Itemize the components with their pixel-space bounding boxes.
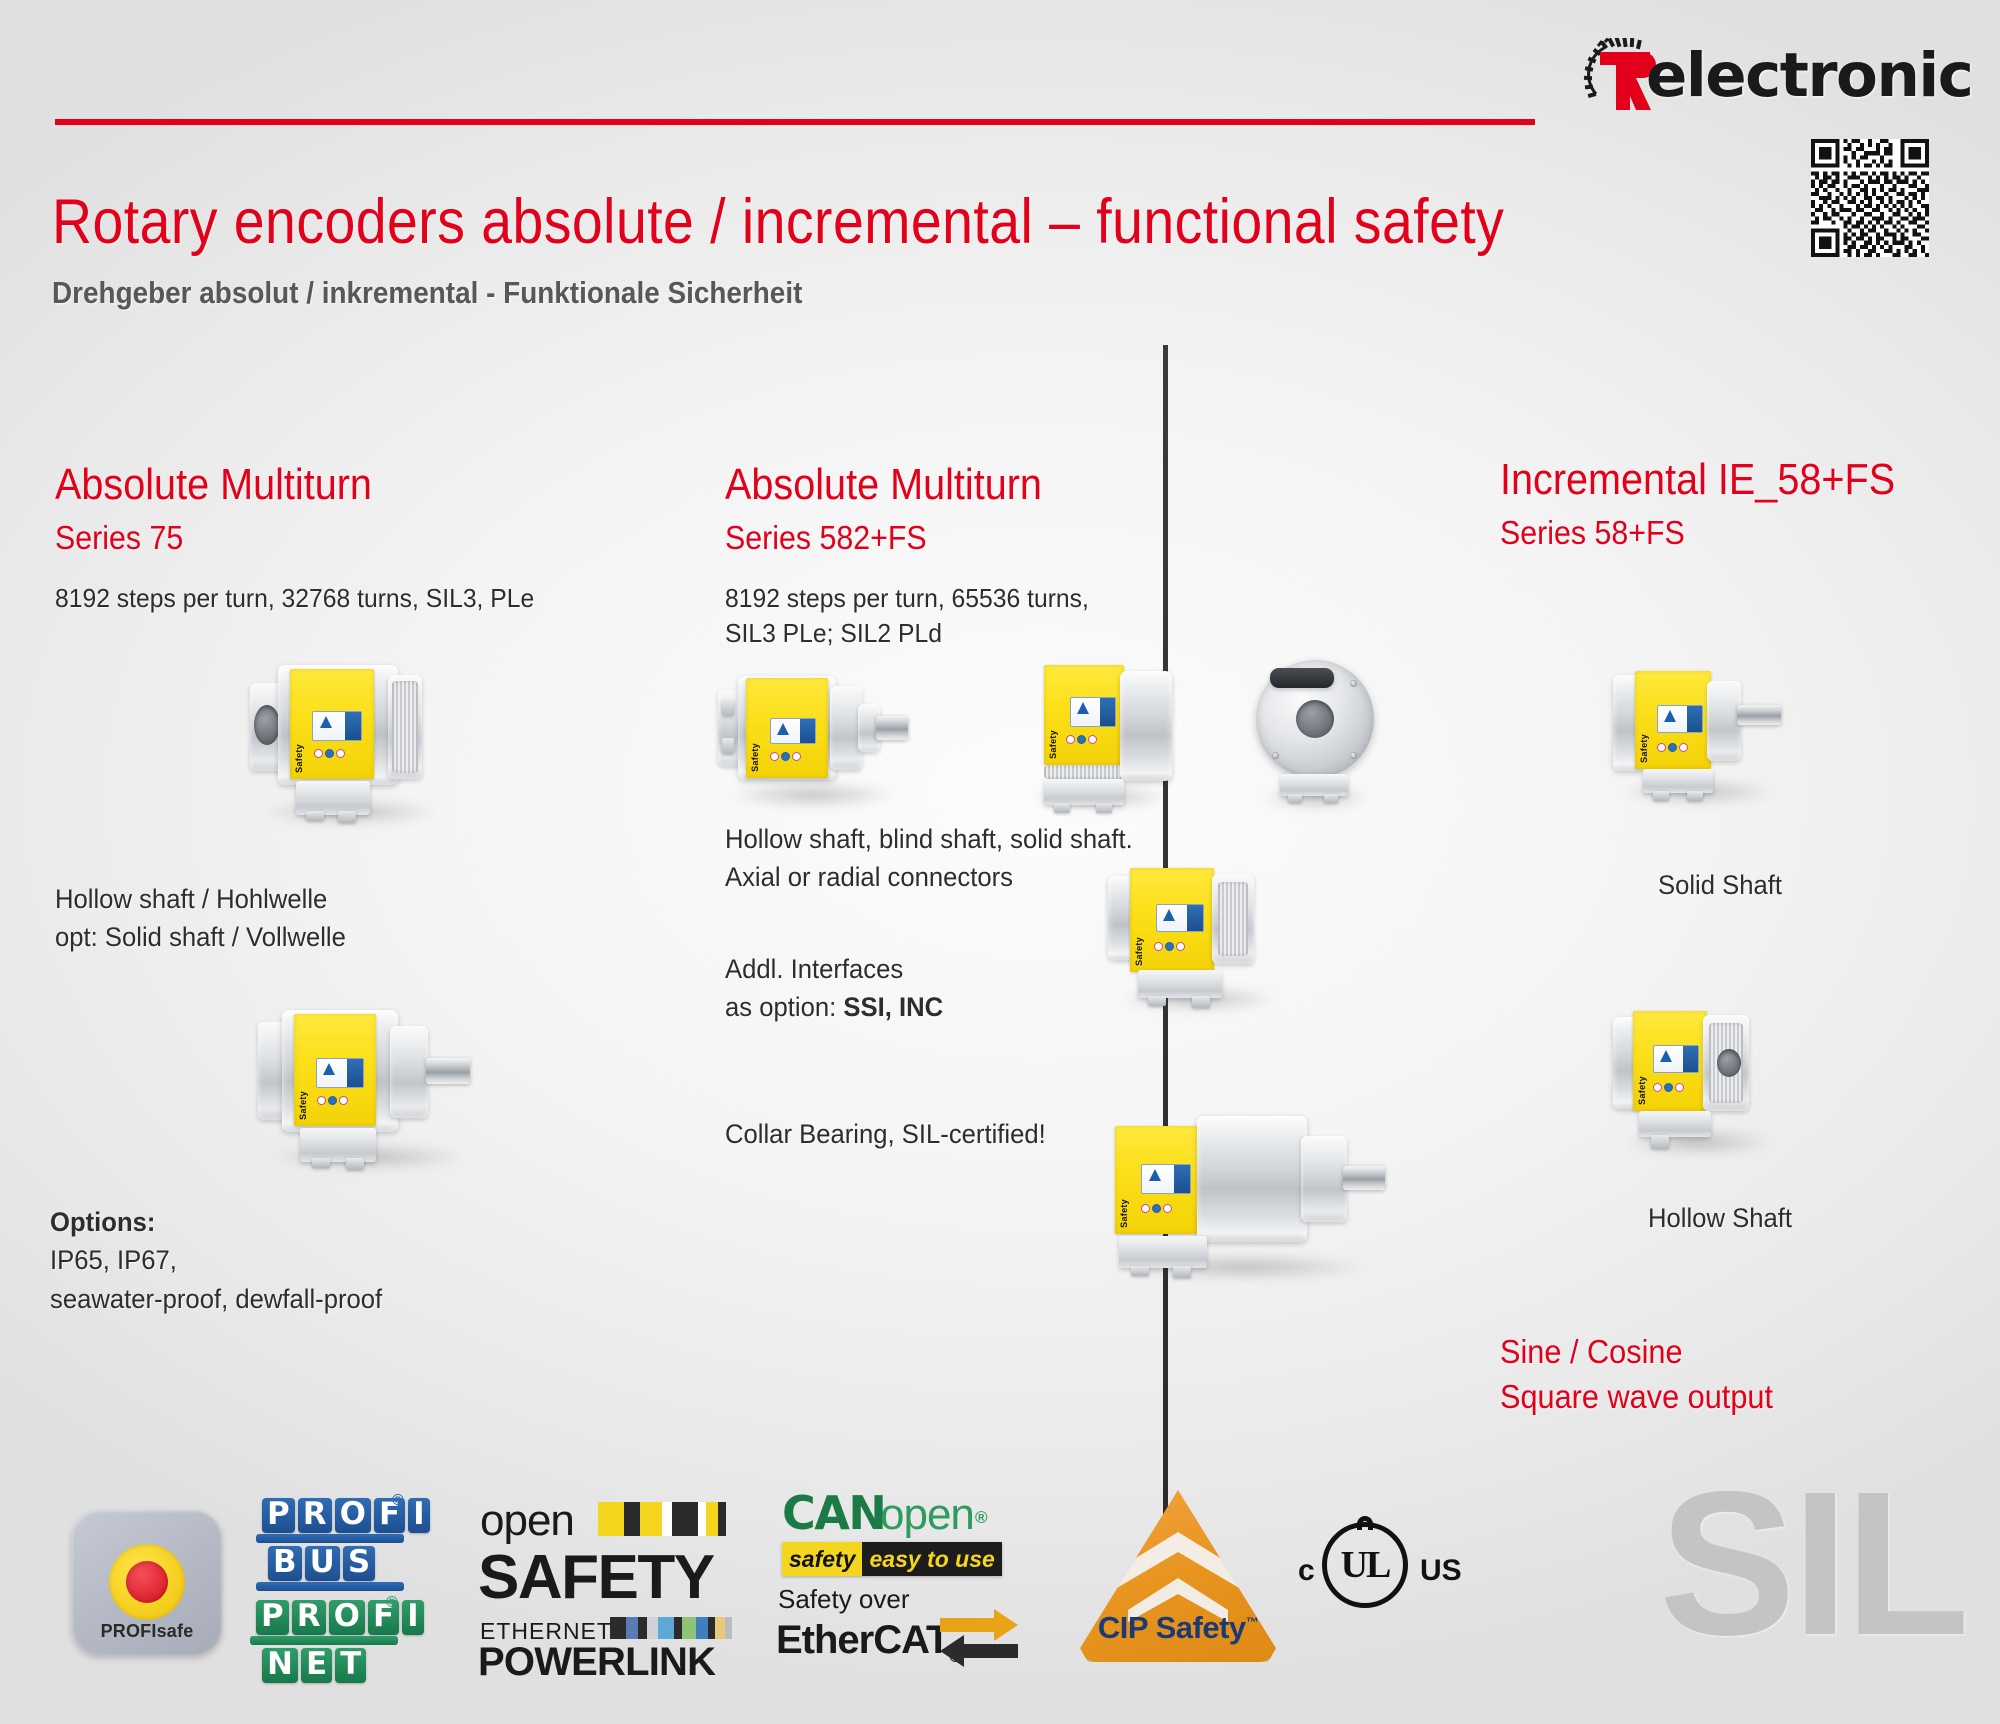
profinet-registered-mark: ® <box>386 1594 398 1612</box>
cip-chevrons-icon <box>1108 1530 1248 1622</box>
interfaces-value: SSI, INC <box>843 992 943 1022</box>
left-shaft-line2: opt: Solid shaft / Vollwelle <box>55 918 549 956</box>
opensafety-bars <box>598 1502 726 1536</box>
powerlink-text: POWERLINK <box>478 1640 715 1685</box>
ethercat-arrow-icon <box>940 1608 1020 1670</box>
profisafe-logo: PROFIsafe <box>72 1510 222 1655</box>
encoder-582fs-face-mount <box>1256 660 1376 800</box>
middle-spec-line1: 8192 steps per turn, 65536 turns, <box>725 581 1257 616</box>
middle-shaft-line1: Hollow shaft, blind shaft, solid shaft. <box>725 820 1219 858</box>
left-options-line1: IP65, IP67, <box>50 1241 544 1279</box>
right-heading: Incremental IE_58+FS <box>1500 455 1914 505</box>
middle-series: Series 582+FS <box>725 519 1240 557</box>
opensafety-open-text: open <box>480 1496 574 1546</box>
cip-safety-label: CIP Safety™ <box>1080 1610 1276 1646</box>
right-caption-solid: Solid Shaft <box>1549 870 1891 901</box>
safety-over-text: Safety over <box>778 1584 910 1615</box>
profibus-registered-mark: ® <box>392 1492 404 1510</box>
middle-interfaces-line2: as option: SSI, INC <box>725 988 1219 1026</box>
datasheet-page: electronic <box>0 0 2000 1724</box>
middle-interfaces-block: Addl. Interfaces as option: SSI, INC <box>725 950 1219 1027</box>
canopen-registered-mark: ® <box>975 1508 988 1528</box>
column-right: Incremental IE_58+FS Series 58+FS <box>1500 455 1960 552</box>
qr-code <box>1811 139 1929 257</box>
ul-ring-icon: UL <box>1322 1522 1408 1608</box>
left-options-block: Options: IP65, IP67, seawater-proof, dew… <box>50 1203 544 1318</box>
encoder-582fs-collar-bearing: Safety <box>1105 1110 1385 1270</box>
encoder-ie58fs-solid-shaft: Safety <box>1613 665 1783 795</box>
sil-watermark: SIL <box>1659 1461 1966 1666</box>
right-output-line2: Square wave output <box>1500 1375 1928 1420</box>
ul-c-mark: c <box>1298 1554 1315 1588</box>
canopen-safety-strip: safety easy to use <box>782 1542 1002 1576</box>
tr-electronic-logo: electronic <box>1578 38 1958 116</box>
left-series: Series 75 <box>55 519 570 557</box>
interfaces-prefix: as option: <box>725 992 843 1022</box>
encoder-582fs-hollow-shaft: Safety <box>1020 665 1180 800</box>
encoder-582fs-solid-shaft: Safety <box>718 668 908 798</box>
canopen-easy-text: easy to use <box>862 1542 1001 1576</box>
ethercat-text: EtherCAT® <box>776 1618 960 1667</box>
left-options-line2: seawater-proof, dewfall-proof <box>50 1280 544 1318</box>
canopen-can-text: CAN <box>782 1486 885 1540</box>
powerlink-color-bars <box>610 1617 732 1639</box>
middle-spec-line2: SIL3 PLe; SIL2 PLd <box>725 616 1257 651</box>
page-subtitle: Drehgeber absolut / inkremental - Funkti… <box>52 275 802 311</box>
encoder-series75-solid-shaft: Safety <box>258 1000 478 1160</box>
right-caption-hollow: Hollow Shaft <box>1549 1203 1891 1234</box>
left-shaft-description: Hollow shaft / Hohlwelle opt: Solid shaf… <box>55 880 549 957</box>
middle-interfaces-line1: Addl. Interfaces <box>725 950 1219 988</box>
page-title: Rotary encoders absolute / incremental –… <box>52 186 1504 258</box>
emergency-stop-icon <box>109 1544 185 1620</box>
header-rule <box>55 119 1535 125</box>
certification-logos: PROFIsafe PROFI ® BUS PROFI ® NET <box>0 1450 2000 1680</box>
encoder-ie58fs-hollow-shaft: Safety <box>1613 1005 1783 1145</box>
left-spec: 8192 steps per turn, 32768 turns, SIL3, … <box>55 581 587 616</box>
middle-spec: 8192 steps per turn, 65536 turns, SIL3 P… <box>725 581 1257 651</box>
column-left: Absolute Multiturn Series 75 8192 steps … <box>55 460 615 616</box>
logo-wordmark: electronic <box>1646 40 1972 111</box>
ul-us-mark: US <box>1420 1554 1462 1588</box>
profisafe-label: PROFIsafe <box>72 1621 222 1642</box>
right-output-line1: Sine / Cosine <box>1500 1330 1928 1375</box>
left-shaft-line1: Hollow shaft / Hohlwelle <box>55 880 549 918</box>
canopen-safety-text: safety <box>782 1542 862 1576</box>
opensafety-safety-text: SAFETY <box>478 1542 714 1613</box>
middle-heading: Absolute Multiturn <box>725 460 1229 510</box>
encoder-series75-hollow-shaft: Safety <box>250 655 450 815</box>
left-heading: Absolute Multiturn <box>55 460 559 510</box>
ul-letters: UL <box>1327 1543 1403 1587</box>
canopen-open-text: open <box>880 1490 974 1540</box>
column-middle: Absolute Multiturn Series 582+FS 8192 st… <box>725 460 1285 651</box>
right-series: Series 58+FS <box>1500 514 1923 552</box>
right-output-note: Sine / Cosine Square wave output <box>1500 1330 1928 1419</box>
left-options-label: Options: <box>50 1203 544 1241</box>
